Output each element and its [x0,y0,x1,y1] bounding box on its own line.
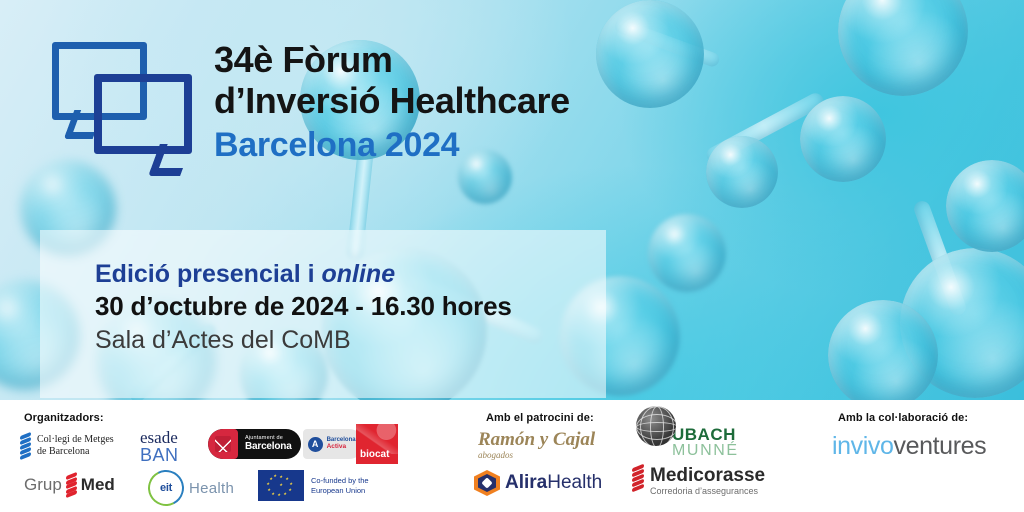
med-text: Med [81,475,115,495]
eu-line-1: Co-funded by the [311,476,369,486]
edition-text: Edició presencial i [95,260,321,288]
ubach-text: UBACH [672,426,739,443]
title-line-3: Barcelona 2024 [214,125,814,166]
sponsors-column: Amb el patrocini de: Ramón y Cajal aboga… [460,400,820,512]
speech-bubbles-icon [42,30,192,180]
health-text: Health [189,480,234,497]
molecule-sphere [946,160,1024,252]
collaborators-heading: Amb la col·laboració de: [838,412,968,424]
caduceus-icon [632,466,644,490]
molecule-sphere [828,300,938,410]
ban-text: BAN [140,446,179,465]
edition-line: Edició presencial i online [95,258,615,290]
grup-text: Grup [24,475,62,495]
title-line-1: 34è Fòrum [214,40,814,81]
esade-text: esade [140,430,178,446]
edition-online: online [321,260,395,288]
eu-line-2: European Union [311,486,369,496]
molecule-sphere [838,0,968,96]
event-banner: 34è Fòrum d’Inversió Healthcare Barcelon… [0,0,1024,512]
health-text: Health [547,472,602,494]
globe-icon [636,406,676,446]
ajuntament-big: Barcelona [245,442,292,453]
caduceus-icon [66,474,77,496]
eit-circle-icon: eit [143,465,188,510]
footer-logos: Organitzadors: Col·legi de Metges de Bar… [0,400,1024,512]
event-details: Edició presencial i online 30 d’octubre … [95,258,615,356]
logo-eit-health[interactable]: eit Health [148,470,234,506]
logo-barcelona-activa[interactable]: A Barcelona Activa [303,429,364,459]
invivo-text: invivo [832,432,894,461]
munne-text: MUNNÉ [672,443,739,459]
logo-alira-health[interactable]: Alira Health [474,470,602,496]
venue-line: Sala d’Actes del CoMB [95,324,615,357]
page-title: 34è Fòrum d’Inversió Healthcare Barcelon… [214,40,814,166]
comb-line-1: Col·legi de Metges [37,434,114,447]
biocat-text: biocat [360,449,389,460]
caduceus-icon [20,433,31,459]
ryc-name: Ramón y Cajal [478,430,595,450]
medicorasse-sub: Corredoria d’assegurances [650,486,765,496]
alira-text: Alira [505,472,547,494]
ryc-sub: abogados [478,450,513,460]
molecule-sphere [648,214,726,292]
medicorasse-text: Medicorasse [650,466,765,486]
logo-eu-cofunded[interactable]: ★★★ ★★★ ★★★ ★★★ Co-funded by the Europea… [258,470,369,501]
organizers-heading: Organitzadors: [24,412,104,424]
activa-line-2: Activa [327,444,356,451]
hexagon-icon [474,470,500,496]
organizers-column: Organitzadors: Col·legi de Metges de Bar… [0,400,460,512]
collaborators-column: Amb la col·laboració de: invivo ventures [820,400,1024,512]
barcelona-activa-icon: A [308,437,323,452]
speech-bubble-front [94,74,192,154]
title-line-2: d’Inversió Healthcare [214,81,814,122]
logo-ajuntament-barcelona[interactable]: Ajuntament de Barcelona A Barcelona Acti… [208,429,364,459]
eit-text: eit [160,482,172,494]
logo-invivo-ventures[interactable]: invivo ventures [832,432,986,461]
logo-grup-med[interactable]: Grup Med [24,474,115,496]
logo-medicorasse[interactable]: Medicorasse Corredoria d’assegurances [632,466,765,496]
logo-esade-ban[interactable]: esade BAN [140,430,179,465]
logo-biocat[interactable]: biocat [356,424,398,464]
sponsors-heading: Amb el patrocini de: [486,412,594,424]
date-line: 30 d’octubre de 2024 - 16.30 hores [95,290,615,324]
logo-comb[interactable]: Col·legi de Metges de Barcelona [20,433,114,459]
ventures-text: ventures [894,432,987,461]
barcelona-crest-icon [208,429,238,459]
eu-flag-icon: ★★★ ★★★ ★★★ ★★★ [258,470,304,501]
logo-ramon-y-cajal[interactable]: Ramón y Cajal abogados [478,430,595,460]
comb-line-2: de Barcelona [37,446,114,459]
logo-ubach-munne[interactable]: UBACH MUNNÉ [636,406,739,459]
